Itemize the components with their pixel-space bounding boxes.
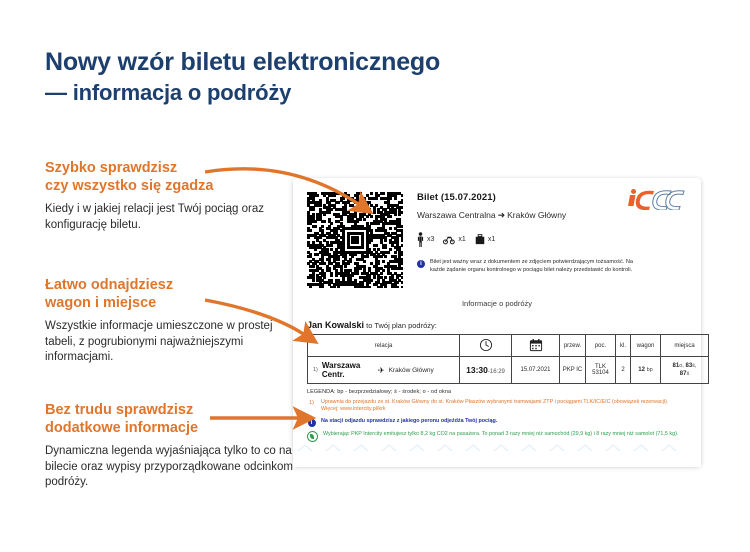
annotation-block-3: Bez trudu sprawdzisz dodatkowe informacj… <box>45 402 295 491</box>
td-przewoznik: PKP IC <box>560 357 586 384</box>
torn-edge <box>293 451 701 467</box>
td-klasa: 2 <box>616 357 631 384</box>
th-godzina <box>460 335 512 357</box>
th-przewoznik: przew. <box>560 335 586 357</box>
intercity-logo-icon <box>627 188 687 210</box>
th-klasa: kl. <box>616 335 631 357</box>
legend-heading: LEGENDA: bp - bezprzedziałowy; ś - środe… <box>307 389 687 395</box>
luggage-count: x1 <box>488 236 495 243</box>
ticket-card: Bilet (15.07.2021) Warszawa Centralna➜Kr… <box>293 178 701 466</box>
annotation-1-title-line1: Szybko sprawdzisz <box>45 160 295 178</box>
clock-icon <box>479 338 493 352</box>
passenger-name: Jan Kowalski <box>307 320 364 330</box>
th-miejsca: miejsca <box>661 335 709 357</box>
annotation-2-title-line1: Łatwo odnajdziesz <box>45 277 295 295</box>
passenger-count-luggage: x1 <box>475 234 495 245</box>
page-title-line1: Nowy wzór biletu elektronicznego <box>45 48 645 77</box>
wagon-number: 12 <box>638 367 645 373</box>
ticket-relation: Warszawa Centralna➜Kraków Główny <box>417 210 687 221</box>
slide-root: Nowy wzór biletu elektronicznego — infor… <box>0 0 750 552</box>
annotation-3-title-line2: dodatkowe informacje <box>45 420 295 438</box>
wagon-suffix: bp <box>647 367 653 373</box>
td-godzina: 13:30-16:29 <box>460 357 512 384</box>
departure-time: 13:30 <box>466 365 488 375</box>
relation-from: Warszawa Centralna <box>417 210 496 220</box>
passenger-summary: x3 x1 <box>417 232 687 247</box>
table-row: 1) Warszawa Centr. ✈ Kraków Główny 13:30… <box>308 357 709 384</box>
person-count: x3 <box>427 236 434 243</box>
ticket-validity-notice-text: Bilet jest ważny wraz z dokumentem ze zd… <box>430 259 642 274</box>
ticket-validity-notice: i Bilet jest ważny wraz z dokumentem ze … <box>417 259 687 274</box>
person-icon <box>417 232 424 247</box>
passenger-count-person: x3 <box>417 232 434 247</box>
leaf-icon <box>307 431 318 442</box>
annotation-2-body: Wszystkie informacje umieszczone w prost… <box>45 319 295 366</box>
th-pociag: poc. <box>586 335 616 357</box>
info-icon: i <box>417 260 425 268</box>
seat-1-suffix: o, <box>679 363 684 369</box>
seat-2-suffix: ś, <box>692 363 696 369</box>
relation-to: Kraków Główny <box>507 210 566 220</box>
td-wagon: 12 bp <box>631 357 661 384</box>
td-data: 15.07.2021 <box>512 357 560 384</box>
aztec-code <box>307 192 403 288</box>
segment-index: 1) <box>313 367 318 373</box>
passenger-count-bicycle: x1 <box>443 235 465 245</box>
segment-arrow-icon: ✈ <box>378 366 385 375</box>
calendar-icon <box>529 338 543 352</box>
ticket-legend: LEGENDA: bp - bezprzedziałowy; ś - środe… <box>307 389 687 442</box>
seat-3-suffix: ś <box>686 371 689 377</box>
travel-plan-line: Jan Kowalski to Twój plan podróży: <box>307 320 687 330</box>
legend-eco-bullet <box>307 431 318 443</box>
info-icon: i <box>308 419 316 427</box>
legend-item: i Na stacji odjazdu sprawdzisz z jakiego… <box>307 418 687 427</box>
relation-arrow-icon: ➜ <box>496 210 508 220</box>
travel-plan-suffix: to Twój plan podróży: <box>364 321 437 330</box>
ticket-header: Bilet (15.07.2021) Warszawa Centralna➜Kr… <box>307 190 687 288</box>
annotation-1-body: Kiedy i w jakiej relacji jest Twój pocią… <box>45 202 295 233</box>
th-wagon: wagon <box>631 335 661 357</box>
th-data <box>512 335 560 357</box>
annotation-1-title-line2: czy wszystko się zgadza <box>45 178 295 196</box>
segment-to: Kraków Główny <box>389 367 434 374</box>
legend-info-bullet: i <box>307 418 316 427</box>
trip-table-header-row: relacja <box>308 335 709 357</box>
page-title: Nowy wzór biletu elektronicznego — infor… <box>45 48 645 106</box>
annotation-3-title: Bez trudu sprawdzisz dodatkowe informacj… <box>45 402 295 437</box>
legend-item-text: Na stacji odjazdu sprawdzisz z jakiego p… <box>321 418 497 425</box>
th-relacja: relacja <box>308 335 460 357</box>
trip-table: relacja <box>307 334 709 384</box>
annotation-3-body: Dynamiczna legenda wyjaśniająca tylko to… <box>45 444 295 491</box>
section-caption: Informacje o podróży <box>307 299 687 308</box>
annotation-1-title: Szybko sprawdzisz czy wszystko się zgadz… <box>45 160 295 195</box>
luggage-icon <box>475 234 485 245</box>
bicycle-count: x1 <box>458 236 465 243</box>
bicycle-icon <box>443 235 455 245</box>
page-title-line2: — informacja o podróży <box>45 79 645 106</box>
legend-item-text: Uprawnia do przejazdu ze st. Kraków Głów… <box>321 399 687 414</box>
legend-item: 1) Uprawnia do przejazdu ze st. Kraków G… <box>307 399 687 414</box>
td-pociag: TLK 53104 <box>586 357 616 384</box>
annotation-block-2: Łatwo odnajdziesz wagon i miejsce Wszyst… <box>45 277 295 366</box>
annotation-3-title-line1: Bez trudu sprawdzisz <box>45 402 295 420</box>
arrival-time: 16:29 <box>490 369 505 375</box>
legend-item: Wybierając PKP Intercity emitujesz tylko… <box>307 431 687 443</box>
annotation-2-title: Łatwo odnajdziesz wagon i miejsce <box>45 277 295 312</box>
annotation-2-title-line2: wagon i miejsce <box>45 295 295 313</box>
segment-from: Warszawa Centr. <box>322 361 374 379</box>
index-marker: 1) <box>307 399 316 406</box>
annotation-block-1: Szybko sprawdzisz czy wszystko się zgadz… <box>45 160 295 233</box>
td-miejsca: 81o, 83ś, 87ś <box>661 357 709 384</box>
td-relacja: 1) Warszawa Centr. ✈ Kraków Główny <box>308 357 460 384</box>
legend-item-text: Wybierając PKP Intercity emitujesz tylko… <box>323 431 678 438</box>
